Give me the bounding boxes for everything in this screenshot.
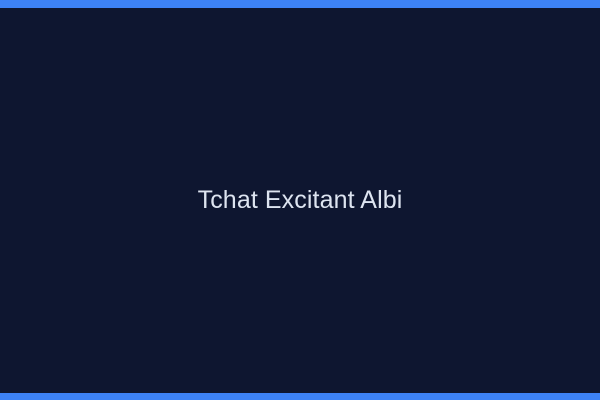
placeholder-banner: Tchat Excitant Albi	[0, 0, 600, 400]
banner-headline: Tchat Excitant Albi	[198, 185, 403, 215]
bottom-accent-band	[0, 393, 600, 400]
top-accent-band	[0, 0, 600, 8]
